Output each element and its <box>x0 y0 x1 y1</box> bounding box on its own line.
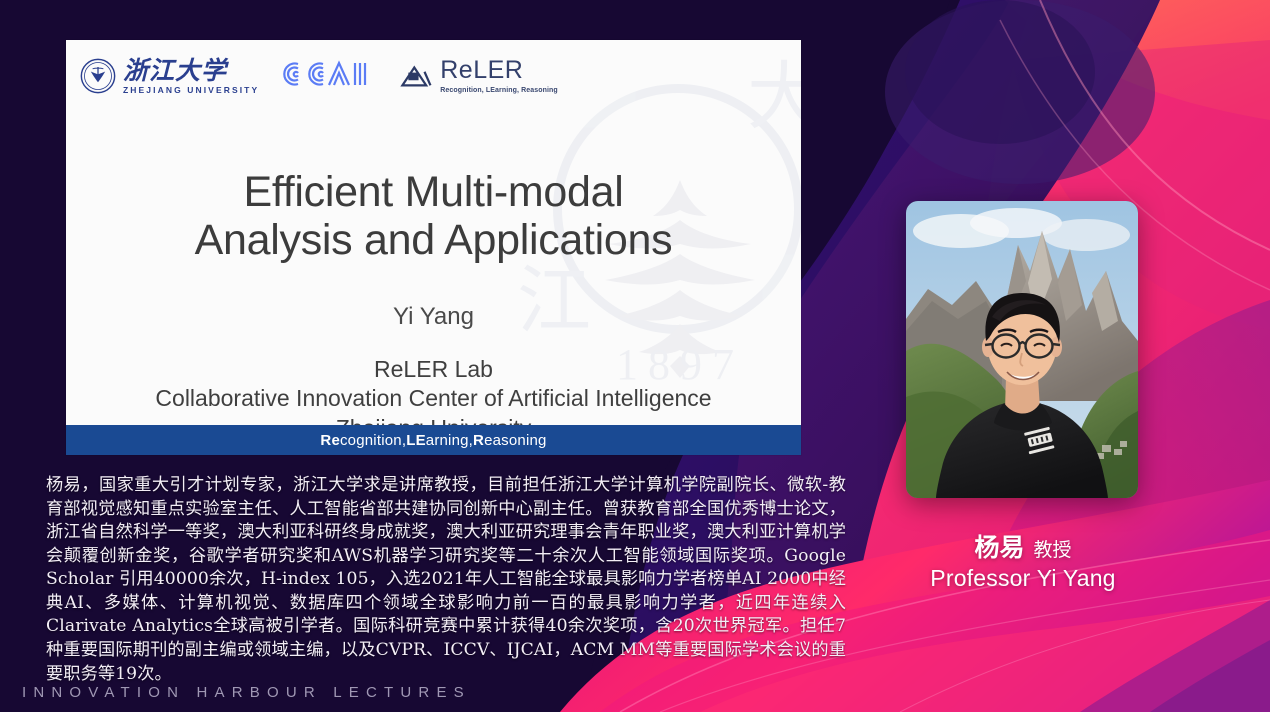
slide-title: Efficient Multi-modal Analysis and Appli… <box>66 168 801 264</box>
footer-le: LE <box>406 432 426 449</box>
footer-re: Re <box>320 432 340 449</box>
slide-title-line2: Analysis and Applications <box>66 216 801 264</box>
footer-arning: arning, <box>426 432 473 449</box>
affiliation-line-1: ReLER Lab <box>66 355 801 384</box>
slide-footer-bar: Recognition, LEarning, Reasoning <box>66 425 801 455</box>
speaker-nameplate: 杨易教授 Professor Yi Yang <box>890 528 1156 592</box>
reler-tagline: Recognition, LEarning, Reasoning <box>440 87 558 94</box>
ccai-logo <box>279 57 375 96</box>
speaker-photo <box>906 201 1138 498</box>
zhejiang-university-logo: 浙江大学 ZHEJIANG UNIVERSITY <box>80 58 259 95</box>
footer-cognition: cognition, <box>340 432 406 449</box>
slide-title-line1: Efficient Multi-modal <box>66 168 801 216</box>
poster-stage: 江 大 1897 <box>0 0 1270 712</box>
affiliation-line-2: Collaborative Innovation Center of Artif… <box>66 384 801 413</box>
slide-author: Yi Yang <box>66 303 801 331</box>
lecture-series-label: INNOVATION HARBOUR LECTURES <box>22 684 471 701</box>
zju-seal-icon <box>80 58 116 94</box>
speaker-name-cn: 杨易 <box>974 528 1024 564</box>
footer-easoning: easoning <box>484 432 547 449</box>
ccai-logo-icon <box>279 57 375 91</box>
slide-logo-bar: 浙江大学 ZHEJIANG UNIVERSITY <box>66 40 801 112</box>
speaker-biography: 杨易，国家重大引才计划专家，浙江大学求是讲席教授，目前担任浙江大学计算机学院副院… <box>46 474 846 686</box>
speaker-title-cn: 教授 <box>1034 535 1072 562</box>
nameplate-chinese-row: 杨易教授 <box>890 528 1156 564</box>
zju-english-name: ZHEJIANG UNIVERSITY <box>123 86 259 95</box>
presentation-slide: 江 大 1897 <box>66 40 801 455</box>
speaker-name-en: Professor Yi Yang <box>890 565 1156 592</box>
reler-logo: ReLER Recognition, LEarning, Reasoning <box>399 58 558 94</box>
speaker-photo-image <box>906 201 1138 498</box>
reler-name: ReLER <box>440 58 558 83</box>
reler-mark-icon <box>399 63 433 89</box>
zju-chinese-name: 浙江大学 <box>123 58 259 83</box>
footer-r: R <box>473 432 484 449</box>
